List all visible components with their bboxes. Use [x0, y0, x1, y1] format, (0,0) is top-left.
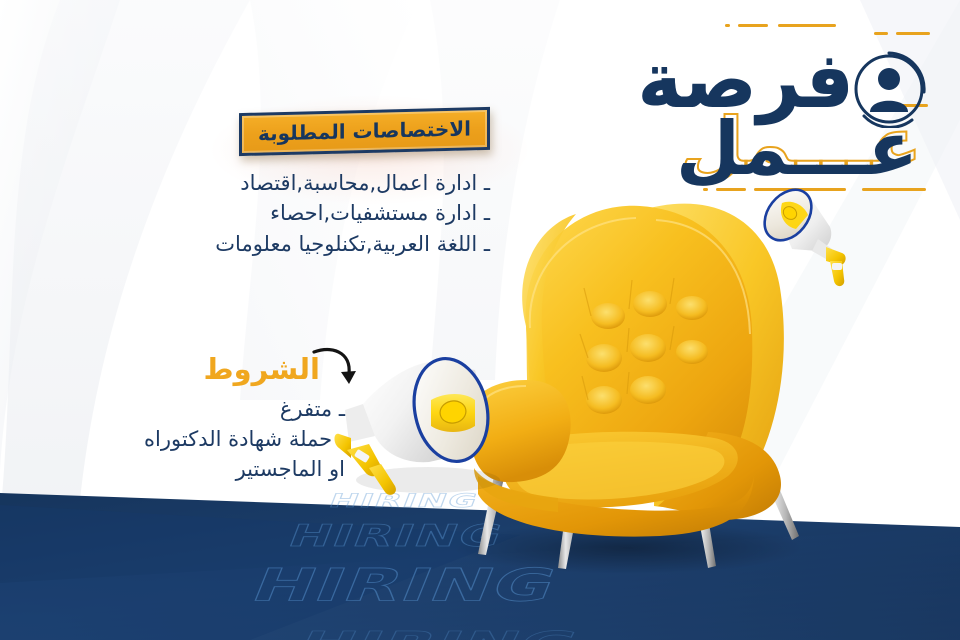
specializations-list: ـ ادارة اعمال,محاسبة,اقتصاد ـ ادارة مستش…: [215, 168, 490, 259]
list-item: ـ ادارة مستشفيات,احصاء: [215, 198, 490, 228]
title-dash-decor: [896, 32, 930, 35]
job-opportunity-poster: HIRING HIRING HIRING HIRING: [0, 0, 960, 640]
megaphone-icon: [333, 340, 518, 500]
title-dash-decor: [716, 188, 746, 191]
list-item: ـ اللغة العربية,تكنلوجيا معلومات: [215, 229, 490, 259]
title-dash-decor: [738, 24, 768, 27]
list-item: ـ حملة شهادة الدكتوراه: [144, 425, 345, 455]
title-dash-decor: [703, 188, 708, 191]
specializations-badge-label: الاختصاصات المطلوبة: [258, 116, 471, 145]
title-dash-decor: [874, 32, 888, 35]
title-dash-decor: [725, 24, 730, 27]
megaphone-icon: [752, 183, 862, 293]
poster-title-block: فرصة عـــمل عـــمل: [566, 16, 946, 201]
person-badge-icon: [850, 50, 928, 128]
list-item: ـ متفرغ: [144, 395, 345, 425]
specializations-badge[interactable]: الاختصاصات المطلوبة: [239, 107, 490, 156]
list-item: ـ ادارة اعمال,محاسبة,اقتصاد: [215, 168, 490, 198]
conditions-list: ـ متفرغ ـ حملة شهادة الدكتوراه او الماجس…: [144, 395, 345, 484]
conditions-title: الشروط: [203, 352, 320, 386]
title-dash-decor: [862, 188, 926, 191]
title-dash-decor: [778, 24, 836, 27]
list-item: او الماجستير: [144, 455, 345, 485]
